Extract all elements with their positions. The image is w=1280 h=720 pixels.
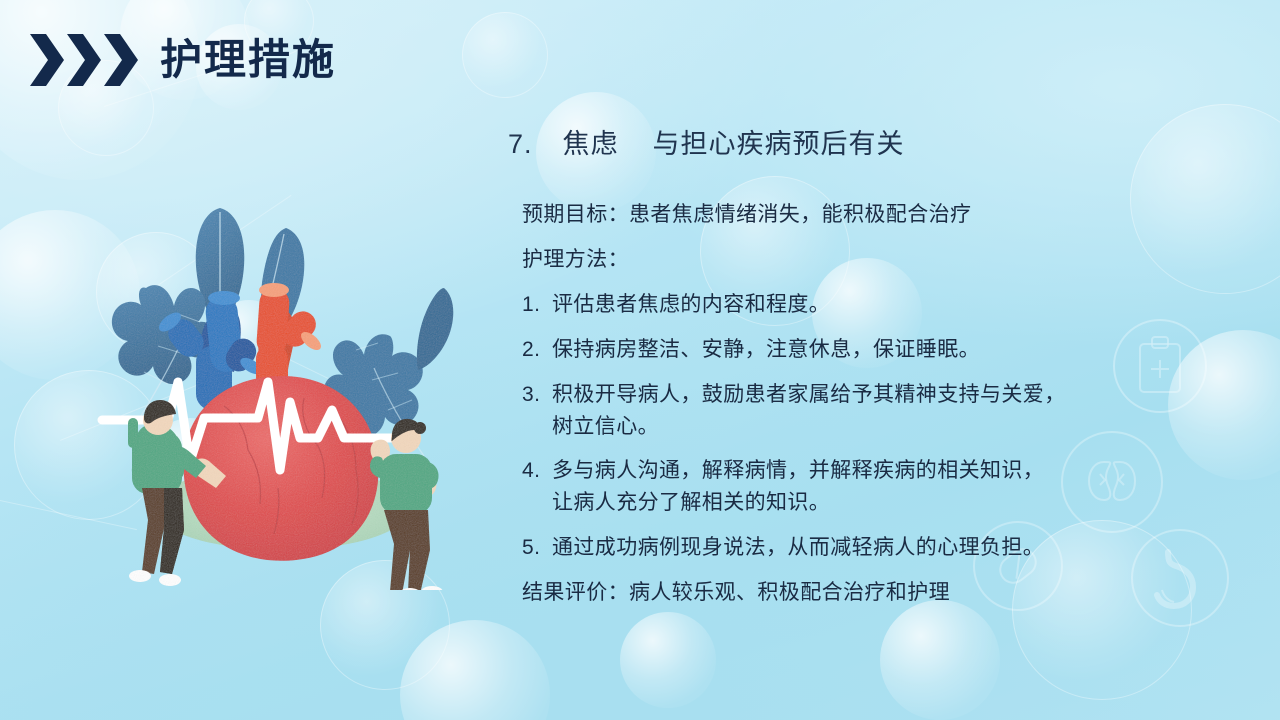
step-line-1: 通过成功病例现身说法，从而减轻病人的心理负担。 (552, 536, 1044, 559)
heading-relation: 与担心疾病预后有关 (653, 122, 905, 161)
chevron-right-icon (104, 34, 138, 86)
step-line-1: 评估患者焦虑的内容和程度。 (552, 293, 830, 316)
step-text: 评估患者焦虑的内容和程度。 (552, 289, 1228, 321)
list-item: 3. 积极开导病人，鼓励患者家属给予其精神支持与关爱， 树立信心。 (522, 379, 1228, 443)
list-item: 4. 多与病人沟通，解释病情，并解释疾病的相关知识， 让病人充分了解相关的知识。 (522, 455, 1228, 519)
list-item: 5. 通过成功病例现身说法，从而减轻病人的心理负担。 (522, 532, 1228, 564)
heart-health-illustration (72, 170, 492, 590)
slide-header: 护理措施 (30, 34, 336, 86)
section-heading: 7. 焦虑 与担心疾病预后有关 (508, 122, 1228, 161)
step-line-1: 积极开导病人，鼓励患者家属给予其精神支持与关爱， (552, 383, 1066, 406)
step-text: 积极开导病人，鼓励患者家属给予其精神支持与关爱， 树立信心。 (552, 379, 1228, 443)
heading-keyword: 焦虑 (563, 122, 619, 161)
step-index: 5. (522, 532, 552, 564)
chevron-right-icon (30, 34, 64, 86)
step-text: 通过成功病例现身说法，从而减轻病人的心理负担。 (552, 532, 1228, 564)
step-index: 2. (522, 334, 552, 366)
step-text: 保持病房整洁、安静，注意休息，保证睡眠。 (552, 334, 1228, 366)
step-line-2: 让病人充分了解相关的知识。 (552, 487, 1228, 519)
step-index: 1. (522, 289, 552, 321)
nursing-steps-list: 1. 评估患者焦虑的内容和程度。 2. 保持病房整洁、安静，注意休息，保证睡眠。… (522, 289, 1228, 564)
expected-goal-line: 预期目标：患者焦虑情绪消失，能积极配合治疗 (522, 199, 1228, 231)
step-text: 多与病人沟通，解释病情，并解释疾病的相关知识， 让病人充分了解相关的知识。 (552, 455, 1228, 519)
page-title: 护理措施 (160, 39, 336, 81)
content-column: 7. 焦虑 与担心疾病预后有关 预期目标：患者焦虑情绪消失，能积极配合治疗 护理… (508, 122, 1228, 622)
list-item: 2. 保持病房整洁、安静，注意休息，保证睡眠。 (522, 334, 1228, 366)
step-index: 3. (522, 379, 552, 411)
result-evaluation-line: 结果评价：病人较乐观、积极配合治疗和护理 (522, 577, 1228, 609)
heading-number: 7. (508, 129, 533, 160)
chevron-group (30, 34, 138, 86)
list-item: 1. 评估患者焦虑的内容和程度。 (522, 289, 1228, 321)
step-line-1: 保持病房整洁、安静，注意休息，保证睡眠。 (552, 338, 980, 361)
step-line-1: 多与病人沟通，解释病情，并解释疾病的相关知识， (552, 459, 1044, 482)
nursing-method-label: 护理方法： (522, 244, 1228, 276)
slide-root: 护理措施 (0, 0, 1280, 720)
step-index: 4. (522, 455, 552, 487)
step-line-2: 树立信心。 (552, 411, 1228, 443)
chevron-right-icon (67, 34, 101, 86)
